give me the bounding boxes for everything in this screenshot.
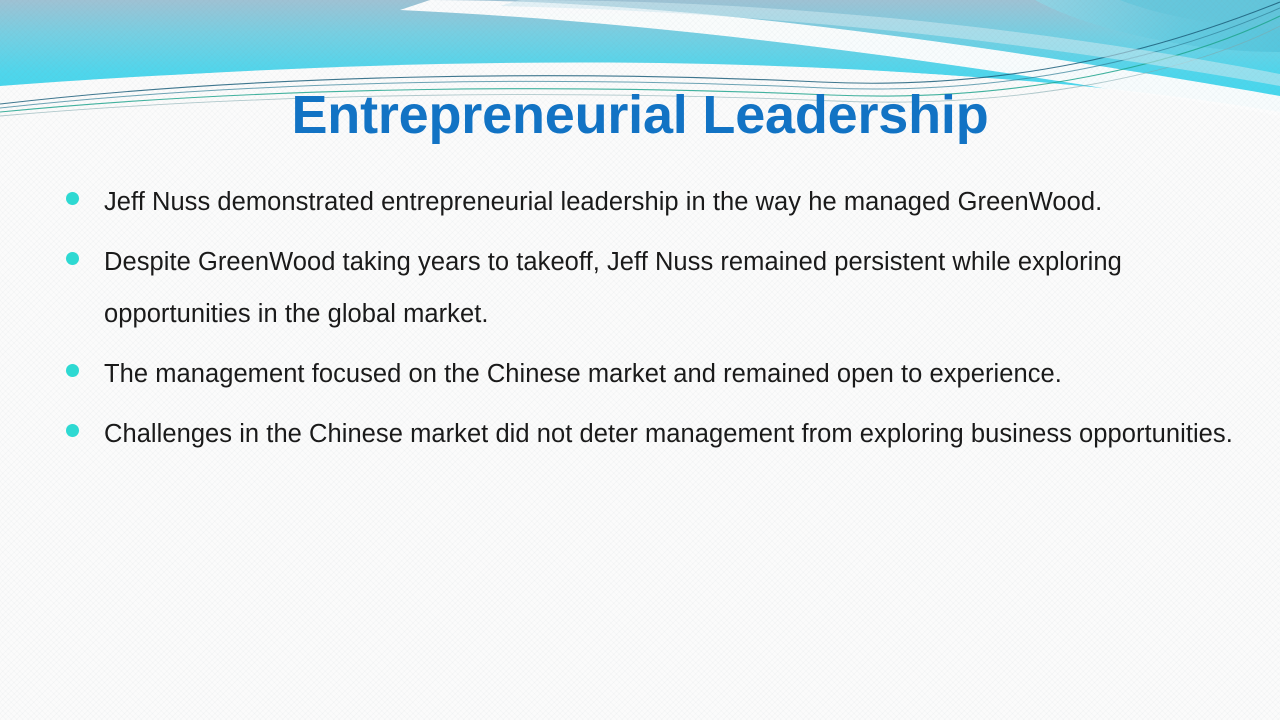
list-item-text: The management focused on the Chinese ma…: [104, 348, 1234, 400]
slide-body-bullet-list: Jeff Nuss demonstrated entrepreneurial l…: [66, 176, 1234, 468]
slide-title: Entrepreneurial Leadership: [0, 86, 1280, 145]
list-item: Challenges in the Chinese market did not…: [66, 408, 1234, 460]
list-item-text: Despite GreenWood taking years to takeof…: [104, 236, 1234, 340]
bullet-dot-icon: [66, 236, 104, 265]
bullet-dot-icon: [66, 408, 104, 437]
bullet-dot-icon: [66, 176, 104, 205]
presentation-slide: Entrepreneurial Leadership Jeff Nuss dem…: [0, 0, 1280, 720]
list-item: Despite GreenWood taking years to takeof…: [66, 236, 1234, 340]
list-item-text: Jeff Nuss demonstrated entrepreneurial l…: [104, 176, 1234, 228]
list-item: Jeff Nuss demonstrated entrepreneurial l…: [66, 176, 1234, 228]
list-item-text: Challenges in the Chinese market did not…: [104, 408, 1234, 460]
bullet-dot-icon: [66, 348, 104, 377]
list-item: The management focused on the Chinese ma…: [66, 348, 1234, 400]
